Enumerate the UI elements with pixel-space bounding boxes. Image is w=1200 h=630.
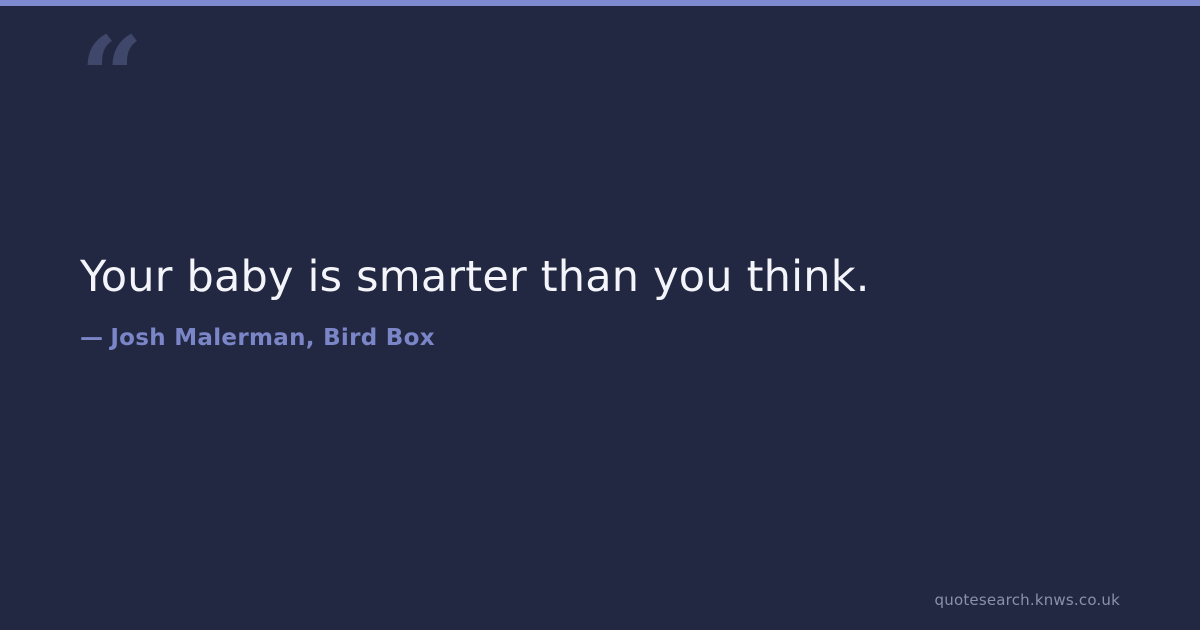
quotation-mark-icon: “ [80, 22, 140, 92]
attribution-label: Josh Malerman, Bird Box [110, 325, 435, 351]
em-dash: — [80, 325, 110, 351]
site-url-footer: quotesearch.knws.co.uk [935, 591, 1120, 609]
quote-attribution: —Josh Malerman, Bird Box [80, 303, 1120, 351]
quote-text: Your baby is smarter than you think. [80, 252, 1120, 303]
quote-content: Your baby is smarter than you think. —Jo… [80, 252, 1120, 351]
top-accent-bar [0, 0, 1200, 6]
quote-card: “ Your baby is smarter than you think. —… [0, 0, 1200, 630]
